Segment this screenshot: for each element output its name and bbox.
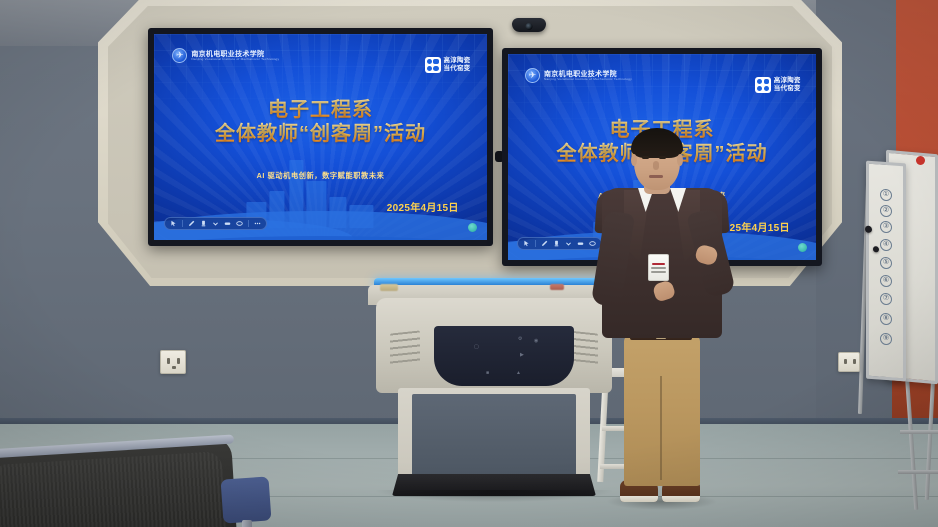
presenter-brow-right bbox=[658, 151, 667, 153]
wb-mark-7: ⑦ bbox=[880, 293, 892, 306]
presenter bbox=[596, 128, 728, 514]
whiteboard-marker-clip-2[interactable] bbox=[873, 246, 879, 252]
slide-left: ✈ 南京机电职业技术学院 Nanjing Vocational Institut… bbox=[154, 34, 487, 240]
shape-icon[interactable] bbox=[236, 220, 243, 227]
ceiling-camera bbox=[512, 18, 546, 32]
chevron-down-icon-2[interactable] bbox=[565, 240, 572, 247]
lectern-ledge-item-right[interactable] bbox=[550, 284, 564, 290]
slide-subtitle: AI 驱动机电创新，数字赋能职教未来 bbox=[154, 171, 487, 181]
presenter-ear-left bbox=[631, 154, 637, 166]
id-badge bbox=[648, 254, 669, 281]
left-display[interactable]: ✈ 南京机电职业技术学院 Nanjing Vocational Institut… bbox=[148, 28, 493, 246]
partner-logo: 高淳陶瓷 当代窑变 bbox=[425, 57, 471, 73]
dot-grid-icon-2 bbox=[755, 77, 771, 93]
school-logo-2: ✈ 南京机电职业技术学院 Nanjing Vocational Institut… bbox=[525, 68, 632, 83]
teaching-lectern[interactable]: ▢ ⚙ ◉ ▶ ■ ▲ bbox=[368, 276, 620, 504]
presenter-brow-left bbox=[641, 151, 650, 153]
chevron-down-icon[interactable] bbox=[212, 220, 219, 227]
wb-mark-2: ② bbox=[880, 205, 892, 218]
lectern-control-panel[interactable]: ▢ ⚙ ◉ ▶ ■ ▲ bbox=[434, 326, 574, 386]
left-display-panel: ✈ 南京机电职业技术学院 Nanjing Vocational Institut… bbox=[154, 34, 487, 240]
wb-mark-9: ⑨ bbox=[880, 333, 892, 346]
dot-grid-icon bbox=[425, 57, 441, 73]
whiteboard-magnet-red[interactable] bbox=[916, 156, 925, 165]
school-logo-mark-2: ✈ bbox=[525, 68, 540, 83]
presenter-eye-right bbox=[659, 156, 666, 159]
slide-title-line1: 电子工程系 bbox=[154, 98, 487, 122]
chair-backrest-pad bbox=[0, 451, 226, 527]
screenshot-root: ✈ 南京机电职业技术学院 Nanjing Vocational Institut… bbox=[0, 0, 938, 527]
wb-mark-6: ⑥ bbox=[880, 275, 892, 288]
wb-mark-1: ① bbox=[880, 189, 892, 202]
chair-armrest bbox=[221, 476, 272, 523]
partner-logo-line1: 高淳陶瓷 bbox=[444, 57, 471, 65]
foreground-lecture-chair[interactable] bbox=[0, 436, 258, 527]
school-name-en: Nanjing Vocational Institute of Mechatro… bbox=[191, 58, 279, 61]
slide-date: 2025年4月15日 bbox=[387, 199, 459, 214]
wall-outlet-left[interactable] bbox=[160, 350, 186, 374]
annotation-toolbar-2[interactable] bbox=[517, 237, 602, 250]
pen-icon-2[interactable] bbox=[541, 240, 548, 247]
slide-title-line2: 全体教师“创客周”活动 bbox=[154, 122, 487, 146]
toolbar-divider-2 bbox=[248, 220, 249, 227]
lectern-ledge-item-left[interactable] bbox=[380, 284, 398, 291]
highlighter-icon[interactable] bbox=[200, 220, 207, 227]
easel-crossbar-2 bbox=[898, 470, 938, 474]
school-logo-mark: ✈ bbox=[172, 48, 187, 63]
cursor-icon-2[interactable] bbox=[523, 240, 530, 247]
partner-logo-2: 高淳陶瓷 当代窑变 bbox=[755, 77, 801, 93]
wb-mark-4: ④ bbox=[880, 239, 892, 252]
toolbar-divider-3 bbox=[535, 240, 536, 247]
presenter-ear-right bbox=[677, 154, 683, 166]
toolbar-divider bbox=[182, 220, 183, 227]
presenter-hair bbox=[631, 128, 683, 158]
chair-armrest-post bbox=[242, 520, 252, 527]
more-icon[interactable] bbox=[254, 220, 261, 227]
wb-mark-8: ⑧ bbox=[880, 313, 892, 326]
presenter-trouser-seam bbox=[660, 376, 662, 480]
whiteboard-marker-clip[interactable] bbox=[865, 226, 872, 233]
slide-title-block: 电子工程系 全体教师“创客周”活动 bbox=[154, 98, 487, 147]
partner-logo-line1-2: 高淳陶瓷 bbox=[774, 77, 801, 85]
lectern-column-face bbox=[412, 394, 576, 476]
presenter-trousers bbox=[624, 336, 700, 486]
partner-logo-line2-2: 当代窑变 bbox=[774, 85, 801, 93]
slide-watermark-icon bbox=[468, 223, 477, 232]
school-logo: ✈ 南京机电职业技术学院 Nanjing Vocational Institut… bbox=[172, 48, 279, 63]
whiteboard-front[interactable]: ① ② ③ ④ ⑤ ⑥ ⑦ ⑧ ⑨ bbox=[866, 161, 906, 382]
school-name-en-2: Nanjing Vocational Institute of Mechatro… bbox=[544, 78, 632, 81]
annotation-toolbar[interactable] bbox=[164, 217, 267, 230]
slide-watermark-icon-2 bbox=[798, 243, 807, 252]
wb-mark-5: ⑤ bbox=[880, 257, 892, 270]
presenter-eye-left bbox=[642, 156, 649, 159]
highlighter-icon-2[interactable] bbox=[553, 240, 560, 247]
presenter-nose bbox=[653, 161, 659, 170]
eraser-icon[interactable] bbox=[224, 220, 231, 227]
easel-crossbar bbox=[900, 430, 938, 434]
wall-outlet-right[interactable] bbox=[838, 352, 860, 372]
eraser-icon-2[interactable] bbox=[577, 240, 584, 247]
pen-icon[interactable] bbox=[188, 220, 195, 227]
lectern-floor-shadow bbox=[376, 490, 612, 502]
cursor-icon[interactable] bbox=[170, 220, 177, 227]
presenter-mouth bbox=[649, 175, 663, 178]
lectern-body: ▢ ⚙ ◉ ▶ ■ ▲ bbox=[376, 298, 612, 393]
partner-logo-line2: 当代窑变 bbox=[444, 65, 471, 73]
lectern-vent-left bbox=[390, 330, 420, 367]
wb-mark-3: ③ bbox=[880, 221, 892, 234]
